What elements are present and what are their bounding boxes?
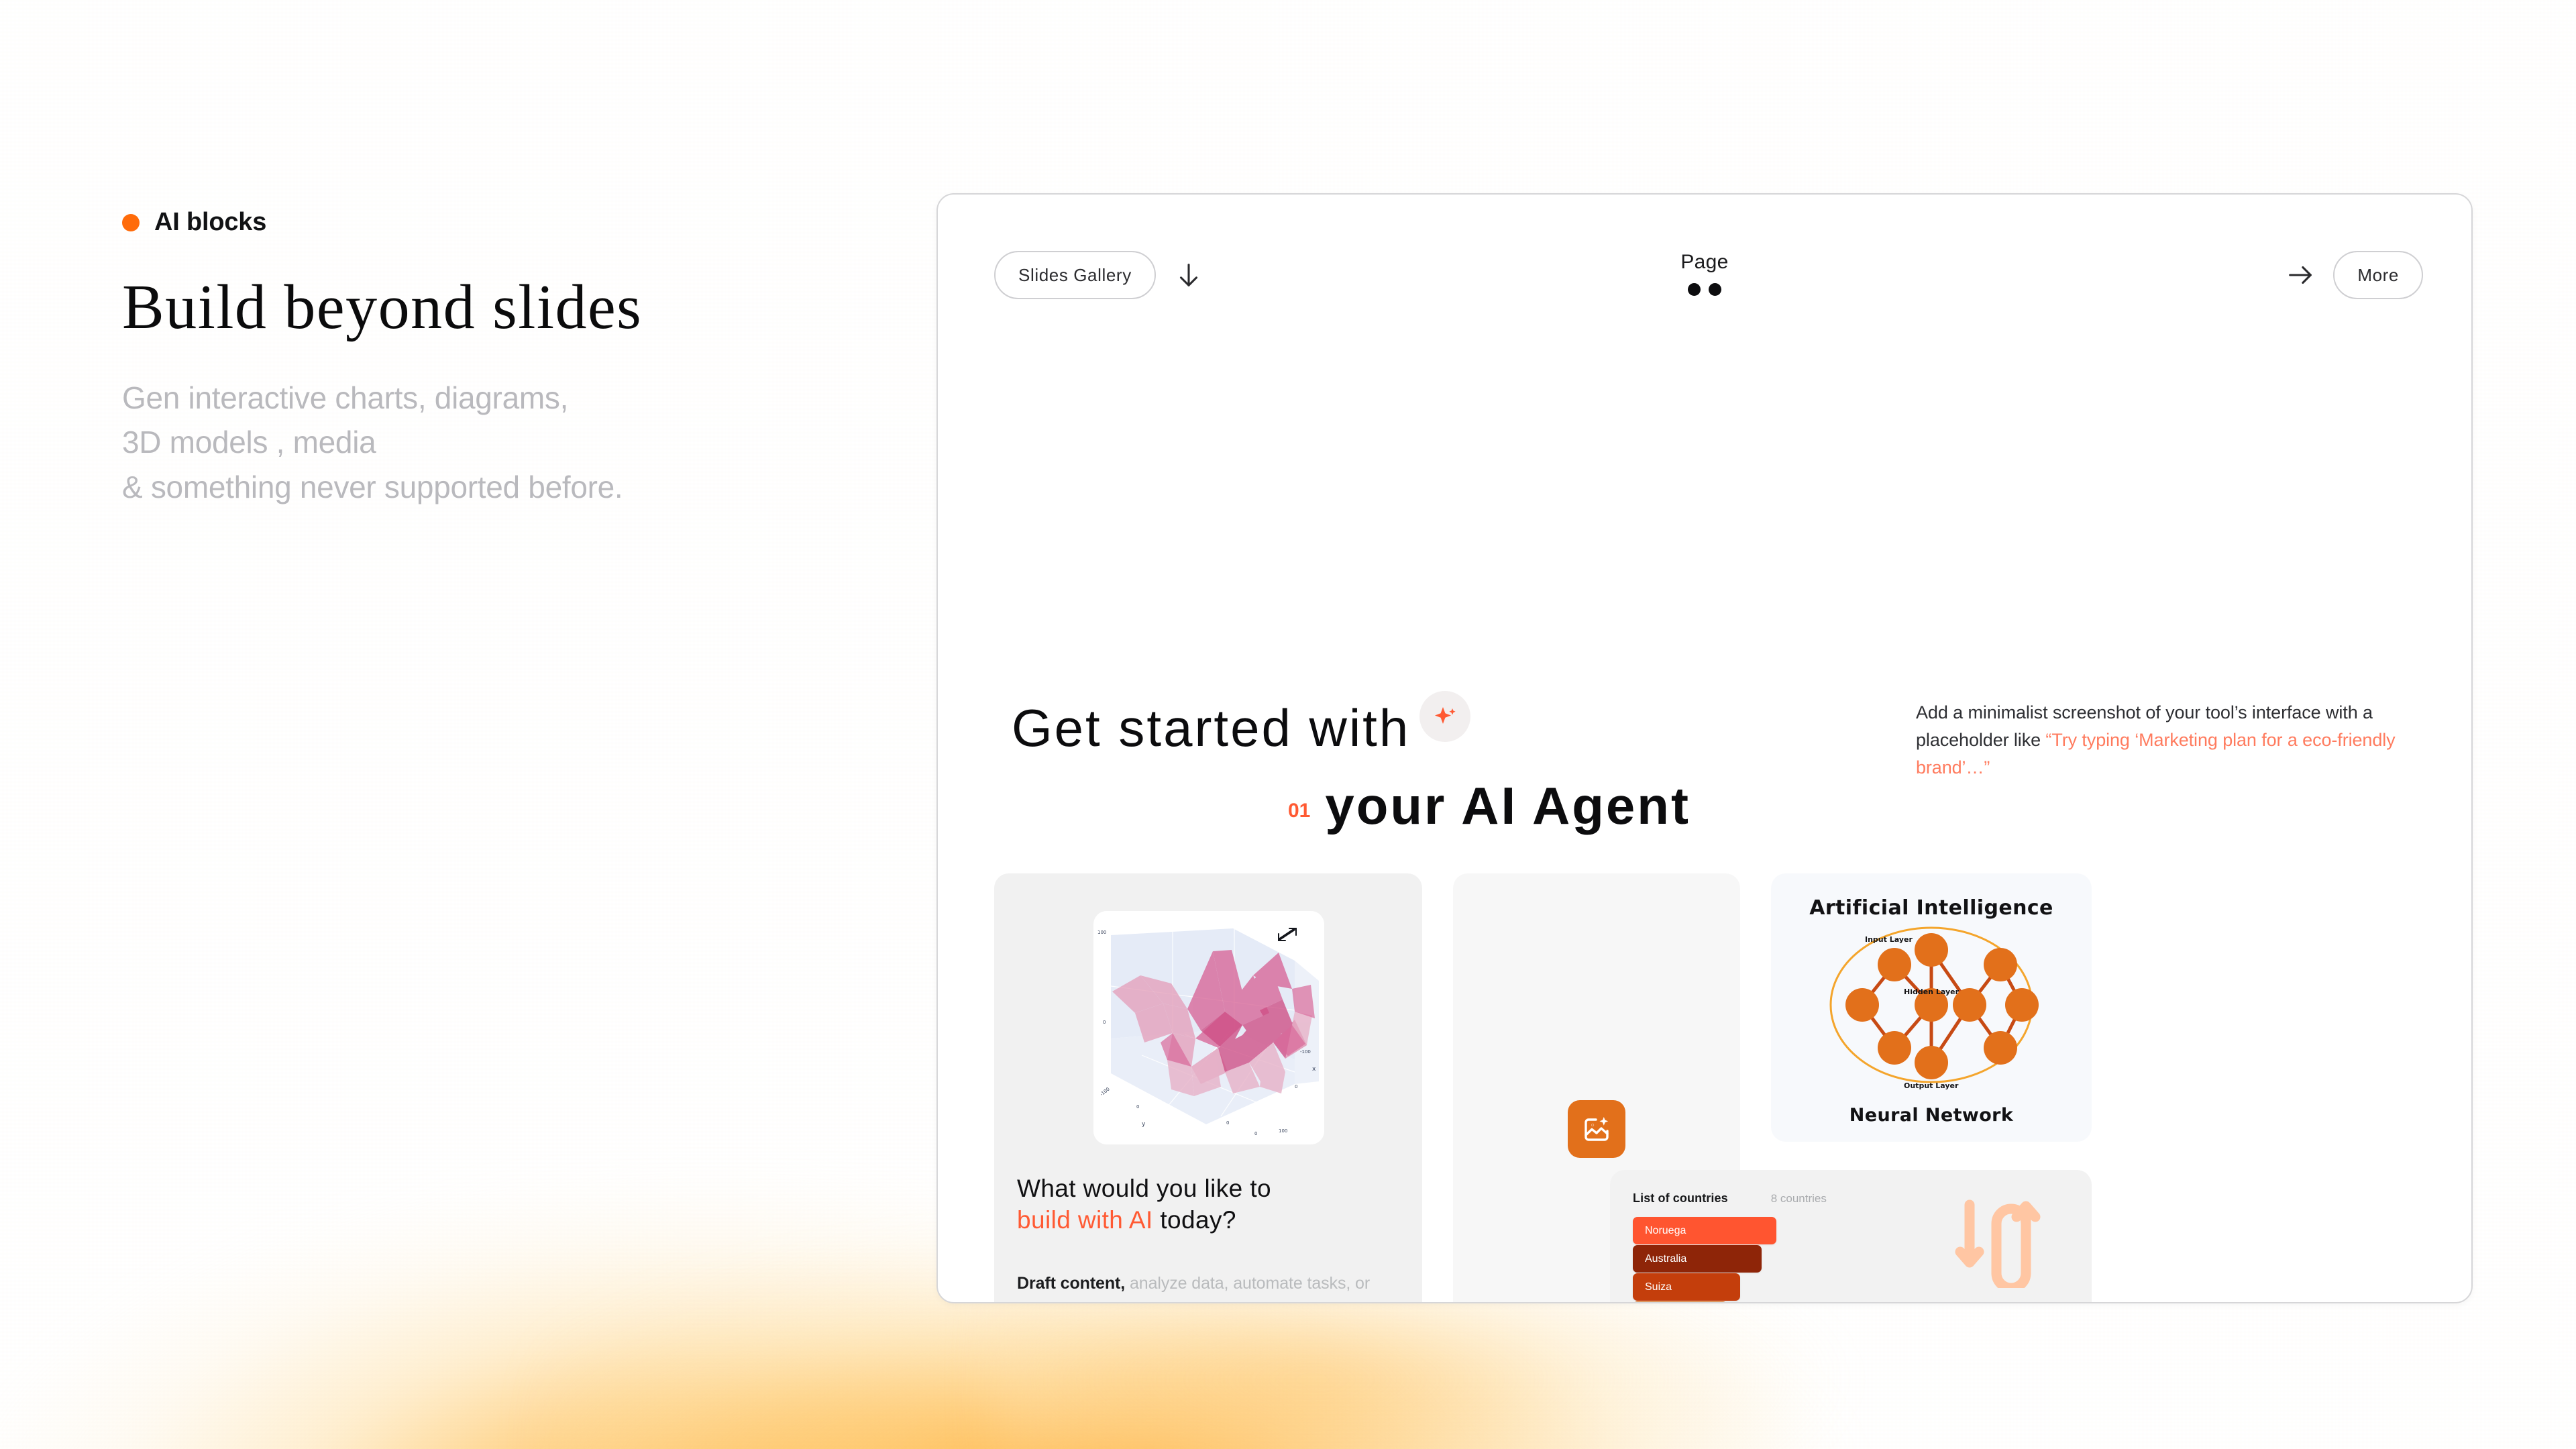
card-grid: 100 0 -100 -100 0 100 0 0 0 x y	[994, 873, 2092, 1303]
preview-panel: Slides Gallery Page	[936, 193, 2473, 1303]
hidden-layer-label: Hidden Layer	[1904, 987, 1960, 996]
toolbar-right-group: More	[2285, 251, 2423, 299]
arrow-right-icon[interactable]	[2285, 260, 2316, 290]
prompt-body-muted: analyze data, automate tasks, or	[1125, 1274, 1370, 1293]
prompt-title-accent: build with AI	[1017, 1206, 1153, 1234]
intro-column: AI blocks Build beyond slides Gen intera…	[122, 208, 873, 510]
flow-arrow-icon	[1955, 1193, 2049, 1291]
page-label: Page	[938, 251, 2471, 274]
toolbar-center-group: Page	[938, 251, 2471, 296]
page-dot[interactable]	[1688, 283, 1701, 296]
svg-text:0: 0	[1136, 1104, 1139, 1110]
svg-text:0: 0	[1295, 1084, 1297, 1089]
table-row[interactable]: Países Bajos	[1633, 1301, 1727, 1303]
output-layer-label: Output Layer	[1904, 1081, 1959, 1090]
svg-text:100: 100	[1279, 1128, 1287, 1134]
headline-line-2-row: 01 your AI Agent	[1012, 780, 2407, 832]
svg-text:0: 0	[1103, 1020, 1106, 1025]
table-row[interactable]: Suiza	[1633, 1273, 1740, 1301]
page-root: AI blocks Build beyond slides Gen intera…	[0, 0, 2576, 1449]
subtitle-line-2: 3D models , media	[122, 425, 376, 460]
headline-line-1: Get started with	[1012, 702, 1410, 754]
data-graphic-card[interactable]: List of countries 8 countries Noruega Au…	[1610, 1170, 2092, 1303]
page-indicator-dots[interactable]	[938, 283, 2471, 296]
eyebrow-label: AI blocks	[154, 208, 266, 237]
eyebrow: AI blocks	[122, 208, 873, 237]
table-row[interactable]: Noruega	[1633, 1217, 1776, 1244]
prompt-card[interactable]: 100 0 -100 -100 0 100 0 0 0 x y	[994, 873, 1422, 1303]
input-layer-label: Input Layer	[1865, 935, 1913, 944]
page-subtitle: Gen interactive charts, diagrams, 3D mod…	[122, 376, 873, 510]
country-bars: Noruega Australia Suiza Países Bajos	[1633, 1217, 1776, 1303]
subtitle-line-1: Gen interactive charts, diagrams,	[122, 380, 568, 415]
table-row[interactable]: Australia	[1633, 1245, 1762, 1273]
prompt-body-strong-2: design visuals in seconds.	[1017, 1299, 1228, 1303]
bullet-dot-icon	[122, 214, 140, 231]
slide-description: Add a minimalist screenshot of your tool…	[1916, 699, 2414, 782]
prompt-card-title: What would you like to build with AI tod…	[1017, 1173, 1393, 1236]
ai-card-title: Artificial Intelligence	[1771, 896, 2092, 920]
ai-diagram-card[interactable]: Artificial Intelligence	[1771, 873, 2092, 1142]
svg-text:y: y	[1142, 1121, 1146, 1128]
country-list-title: List of countries	[1633, 1191, 1728, 1205]
prompt-title-part-1: What would you like to	[1017, 1175, 1271, 1202]
panel-toolbar: Slides Gallery Page	[938, 195, 2471, 322]
more-button[interactable]: More	[2333, 251, 2423, 299]
prompt-title-part-2: today?	[1153, 1206, 1236, 1234]
svg-text:0: 0	[1254, 1131, 1257, 1136]
country-count: 8 countries	[1771, 1192, 1827, 1205]
ai-card-caption: Neural Network	[1771, 1105, 2092, 1126]
country-list-header: List of countries 8 countries	[1633, 1191, 1901, 1205]
bar-label: Suiza	[1645, 1281, 1672, 1293]
surface-chart[interactable]: 100 0 -100 -100 0 100 0 0 0 x y	[1093, 911, 1324, 1144]
svg-text:x: x	[1312, 1066, 1316, 1073]
prompt-card-body: Draft content, analyze data, automate ta…	[1017, 1271, 1373, 1303]
bar-label: Noruega	[1645, 1225, 1686, 1237]
prompt-body-strong-1: Draft content,	[1017, 1274, 1125, 1293]
page-title: Build beyond slides	[122, 274, 873, 341]
headline-line-2: your AI Agent	[1325, 780, 1690, 832]
headline-number: 01	[1288, 801, 1310, 821]
image-sparkle-icon[interactable]	[1568, 1100, 1625, 1158]
svg-text:0: 0	[1226, 1120, 1229, 1126]
bar-label: Australia	[1645, 1253, 1686, 1265]
page-dot[interactable]	[1709, 283, 1721, 296]
svg-text:100: 100	[1097, 930, 1106, 935]
subtitle-line-3: & something never supported before.	[122, 470, 623, 504]
sparkle-icon	[1419, 691, 1470, 742]
neural-network-diagram: Input Layer Hidden Layer Output Layer	[1821, 920, 2042, 1095]
right-card-column: Artificial Intelligence	[1771, 873, 2092, 1303]
svg-text:-100: -100	[1300, 1049, 1311, 1055]
